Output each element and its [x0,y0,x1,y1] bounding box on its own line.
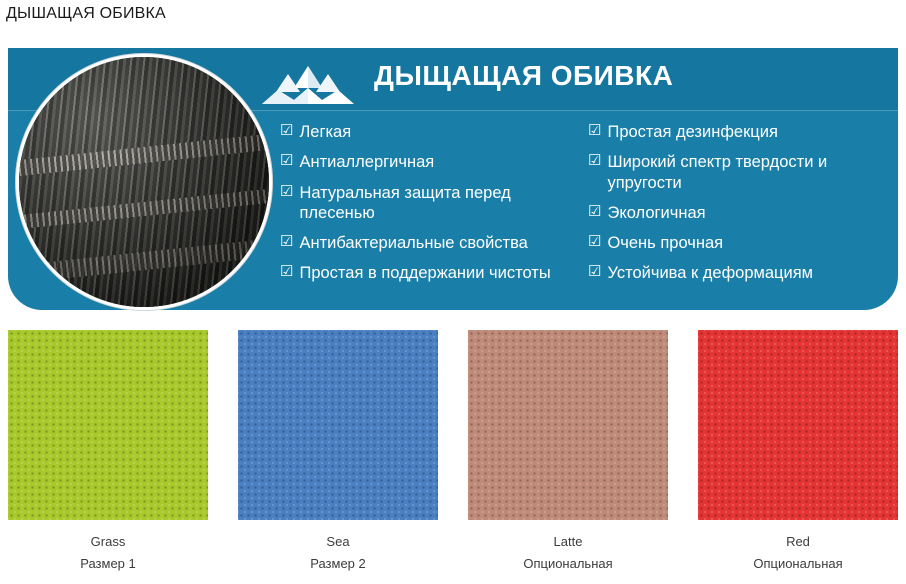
feature-column-left: ☑ Легкая ☑ Антиаллергичная ☑ Натуральная… [280,122,576,294]
feature-label: Экологичная [607,203,705,223]
feature-item: ☑ Широкий спектр твердости и упругости [588,152,884,193]
checkbox-icon: ☑ [280,183,293,202]
swatch-color-grass[interactable] [8,330,208,520]
color-swatch-row: Grass Размер 1 Sea Размер 2 Latte Опцион… [8,330,898,571]
feature-item: ☑ Простая в поддержании чистоты [280,263,576,283]
feature-label: Легкая [299,122,351,142]
swatch-size: Опциональная [698,556,898,571]
checkbox-icon: ☑ [588,263,601,282]
feature-item: ☑ Легкая [280,122,576,142]
swatch-name: Red [698,534,898,549]
feature-item: ☑ Простая дезинфекция [588,122,884,142]
swatch-name: Grass [8,534,208,549]
breathable-upholstery-banner: ДЫЩАЩАЯ ОБИВКА ☑ Легкая ☑ Антиаллергична… [8,48,898,310]
swatch-name: Sea [238,534,438,549]
checkbox-icon: ☑ [588,233,601,252]
swatch-size: Размер 2 [238,556,438,571]
swatch-color-red[interactable] [698,330,898,520]
feature-item: ☑ Натуральная защита перед плесенью [280,183,576,224]
swatch-color-sea[interactable] [238,330,438,520]
feature-label: Антиаллергичная [299,152,434,172]
feature-label: Широкий спектр твердости и упругости [607,152,884,193]
swatch-item[interactable]: Sea Размер 2 [238,330,438,571]
swatch-item[interactable]: Grass Размер 1 [8,330,208,571]
fabric-photo [16,54,272,310]
swatch-item[interactable]: Latte Опциональная [468,330,668,571]
banner-title: ДЫЩАЩАЯ ОБИВКА [374,60,673,92]
checkbox-icon: ☑ [588,152,601,171]
fabric-photo-texture [19,57,269,307]
crown-icon [260,62,356,108]
feature-label: Простая дезинфекция [607,122,777,142]
checkbox-icon: ☑ [280,233,293,252]
page-title: ДЫШАЩАЯ ОБИВКА [6,5,166,23]
swatch-name: Latte [468,534,668,549]
feature-item: ☑ Устойчива к деформациям [588,263,884,283]
feature-label: Натуральная защита перед плесенью [299,183,576,224]
checkbox-icon: ☑ [280,122,293,141]
feature-item: ☑ Антибактериальные свойства [280,233,576,253]
feature-label: Устойчива к деформациям [607,263,813,283]
swatch-color-latte[interactable] [468,330,668,520]
checkbox-icon: ☑ [588,122,601,141]
feature-lists: ☑ Легкая ☑ Антиаллергичная ☑ Натуральная… [280,122,884,294]
checkbox-icon: ☑ [588,203,601,222]
feature-label: Простая в поддержании чистоты [299,263,550,283]
checkbox-icon: ☑ [280,263,293,282]
feature-column-right: ☑ Простая дезинфекция ☑ Широкий спектр т… [588,122,884,294]
checkbox-icon: ☑ [280,152,293,171]
swatch-size: Размер 1 [8,556,208,571]
feature-item: ☑ Антиаллергичная [280,152,576,172]
swatch-item[interactable]: Red Опциональная [698,330,898,571]
fabric-photo-shading [19,57,269,307]
feature-label: Антибактериальные свойства [299,233,527,253]
feature-label: Очень прочная [607,233,723,253]
feature-item: ☑ Очень прочная [588,233,884,253]
feature-item: ☑ Экологичная [588,203,884,223]
swatch-size: Опциональная [468,556,668,571]
